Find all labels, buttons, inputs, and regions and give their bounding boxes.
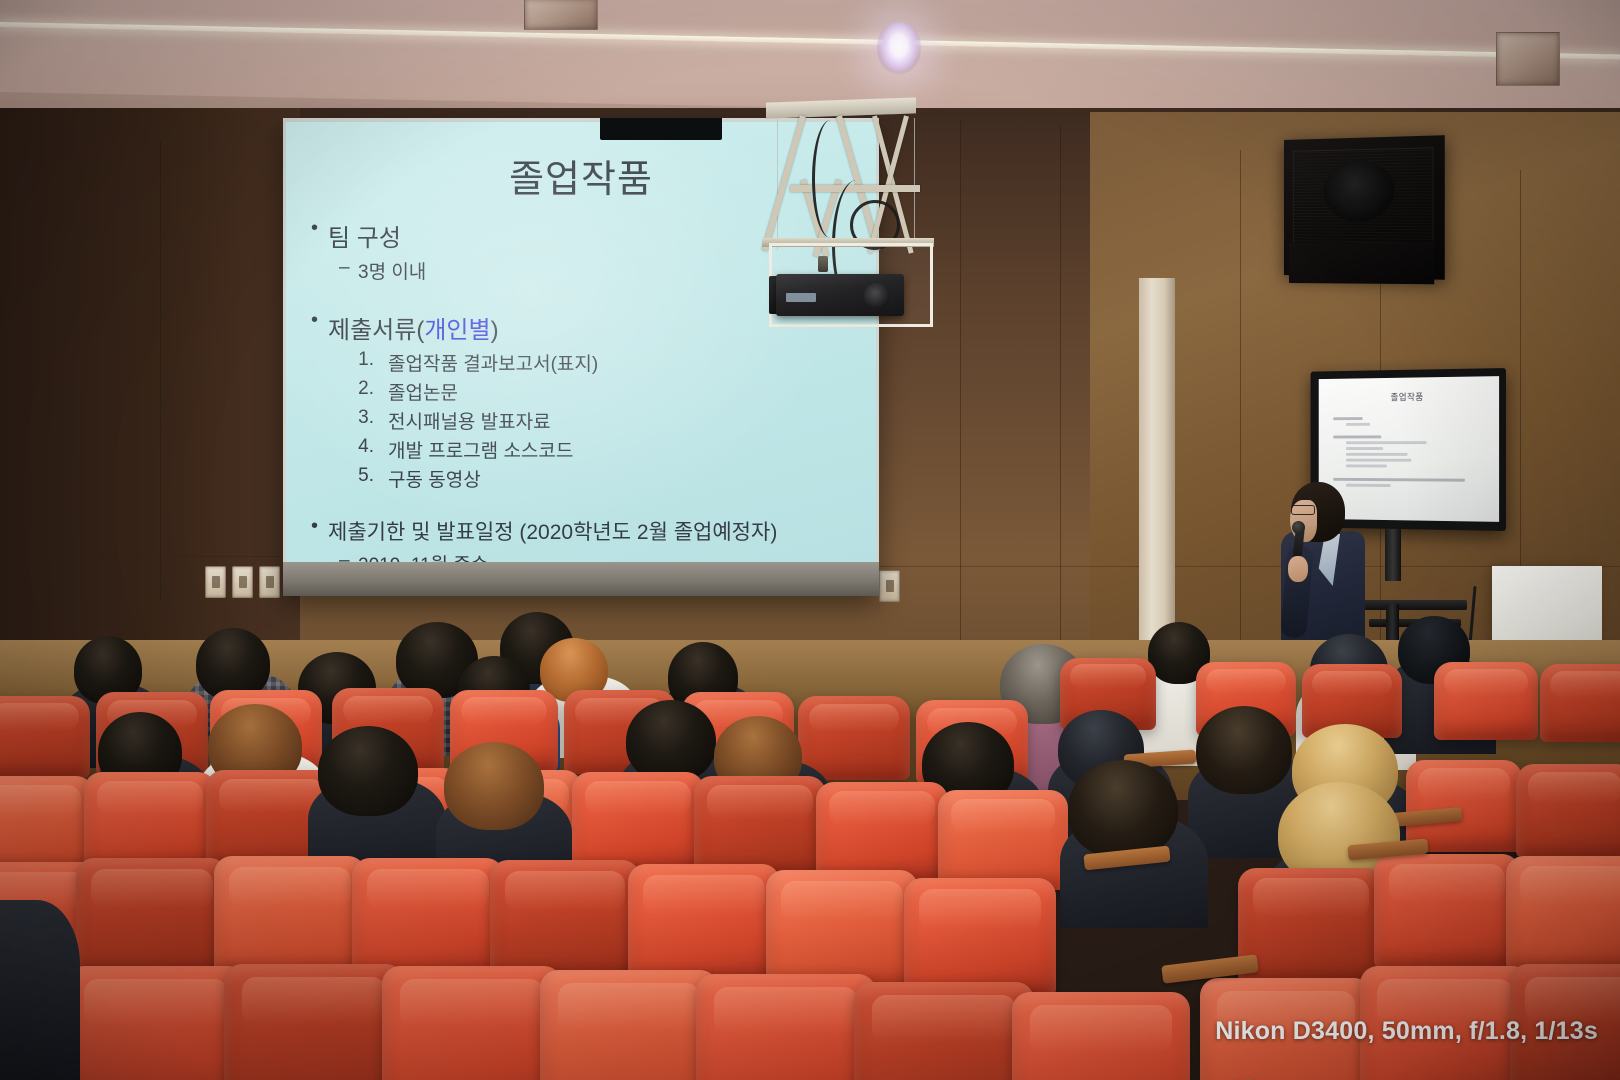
slide-numbered-item: 1.졸업작품 결과보고서(표지) <box>358 349 854 376</box>
seat <box>1540 664 1620 742</box>
seat <box>84 772 216 872</box>
monitor-text-line <box>1346 459 1411 462</box>
seat <box>1516 764 1620 858</box>
ceiling-vent <box>1496 32 1560 86</box>
confidence-monitor-title: 졸업작품 <box>1319 389 1499 404</box>
seat <box>798 696 910 780</box>
glasses-icon <box>1291 505 1315 515</box>
seat <box>490 860 640 978</box>
projected-slide: 졸업작품 팀 구성 3명 이내 제출서류(개인별) 1.졸업작품 결과보고서(표… <box>286 122 876 567</box>
item-number: 5. <box>358 465 374 492</box>
monitor-text-line <box>1346 447 1383 450</box>
seat <box>696 974 876 1080</box>
monitor-text-line <box>1346 423 1370 426</box>
wall-seam <box>960 120 961 668</box>
monitor-text-line <box>1346 441 1426 444</box>
screen-bottom-rail <box>283 562 879 596</box>
speaker-woofer <box>1324 159 1394 221</box>
audience-head <box>444 742 544 830</box>
wall-outlet <box>259 566 280 598</box>
pa-speaker-sub <box>1289 242 1434 285</box>
seat <box>76 858 228 976</box>
audience-head <box>1068 760 1178 858</box>
ceiling-downlight <box>877 22 921 74</box>
seat <box>214 856 366 974</box>
wall-seam <box>1060 124 1061 668</box>
item-number: 4. <box>358 436 374 463</box>
seat <box>0 696 90 778</box>
wall-outlet <box>205 566 226 598</box>
seat <box>66 966 246 1080</box>
ceiling-vent <box>524 0 598 30</box>
screen-roller-housing <box>600 118 722 140</box>
audience-seating <box>0 600 1620 1080</box>
left-wall <box>0 108 300 668</box>
seat <box>904 878 1056 996</box>
seat <box>1506 856 1620 970</box>
wall-seam <box>1240 150 1241 660</box>
slide-numbered-item: 4.개발 프로그램 소스코드 <box>358 436 854 463</box>
slide-bullet-2-lead: 제출서류( <box>328 317 424 344</box>
seat <box>938 790 1068 890</box>
confidence-monitor-screen: 졸업작품 <box>1319 376 1499 522</box>
seat <box>1012 992 1190 1080</box>
slide-bullet-2-tail: ) <box>491 317 499 344</box>
seat <box>854 982 1034 1080</box>
seat <box>766 870 918 988</box>
monitor-stand-neck <box>1385 529 1401 581</box>
seat <box>0 776 94 874</box>
item-text: 전시패널용 발표자료 <box>388 407 551 434</box>
wall-seam <box>160 140 161 600</box>
slide-numbered-item: 5.구동 동영상 <box>358 465 854 492</box>
slide-bullet-2-accent: 개인별 <box>424 317 490 344</box>
audience-head <box>318 726 418 816</box>
slide-numbered-item: 3.전시패널용 발표자료 <box>358 407 854 434</box>
monitor-text-line <box>1346 464 1387 467</box>
monitor-text-line <box>1333 417 1362 420</box>
seat <box>1434 662 1538 740</box>
monitor-text-line <box>1333 478 1465 482</box>
seat <box>224 964 404 1080</box>
item-text: 졸업논문 <box>388 378 458 405</box>
projector-label <box>786 293 816 302</box>
item-number: 2. <box>358 378 374 405</box>
monitor-text-line <box>1333 435 1381 438</box>
item-text: 졸업작품 결과보고서(표지) <box>388 349 598 376</box>
seat <box>352 858 504 976</box>
monitor-text-line <box>1346 484 1391 487</box>
microphone-head <box>1292 521 1305 534</box>
projector-adjuster <box>818 256 828 272</box>
wall-outlet <box>232 566 253 598</box>
seat <box>628 864 780 982</box>
item-text: 개발 프로그램 소스코드 <box>388 436 573 463</box>
seat <box>540 970 718 1080</box>
rig-support-wire <box>914 118 915 244</box>
wall-outlet <box>879 570 900 602</box>
audience-head <box>1196 706 1292 794</box>
audience-head <box>626 700 716 782</box>
seat <box>694 776 826 876</box>
slide-bullet-3: 제출기한 및 발표일정 (2020학년도 2월 졸업예정자) <box>328 516 854 546</box>
speaker-hand <box>1288 556 1308 582</box>
seat <box>382 966 562 1080</box>
camera-info-watermark: Nikon D3400, 50mm, f/1.8, 1/13s <box>1215 1017 1598 1046</box>
item-number: 3. <box>358 407 374 434</box>
seat <box>1374 854 1520 968</box>
rig-support-wire <box>777 118 778 250</box>
projector <box>776 274 904 316</box>
seat <box>572 772 704 872</box>
audience-shoulders <box>0 900 80 1080</box>
auditorium-photo: 졸업작품 팀 구성 3명 이내 제출서류(개인별) 1.졸업작품 결과보고서(표… <box>0 0 1620 1080</box>
projector-lens <box>864 283 890 309</box>
seat <box>1238 868 1384 982</box>
monitor-text-line <box>1346 453 1407 456</box>
item-number: 1. <box>358 349 374 376</box>
seat <box>816 782 948 882</box>
wall-seam <box>0 556 290 557</box>
item-text: 구동 동영상 <box>388 465 481 492</box>
slide-numbered-item: 2.졸업논문 <box>358 378 854 405</box>
